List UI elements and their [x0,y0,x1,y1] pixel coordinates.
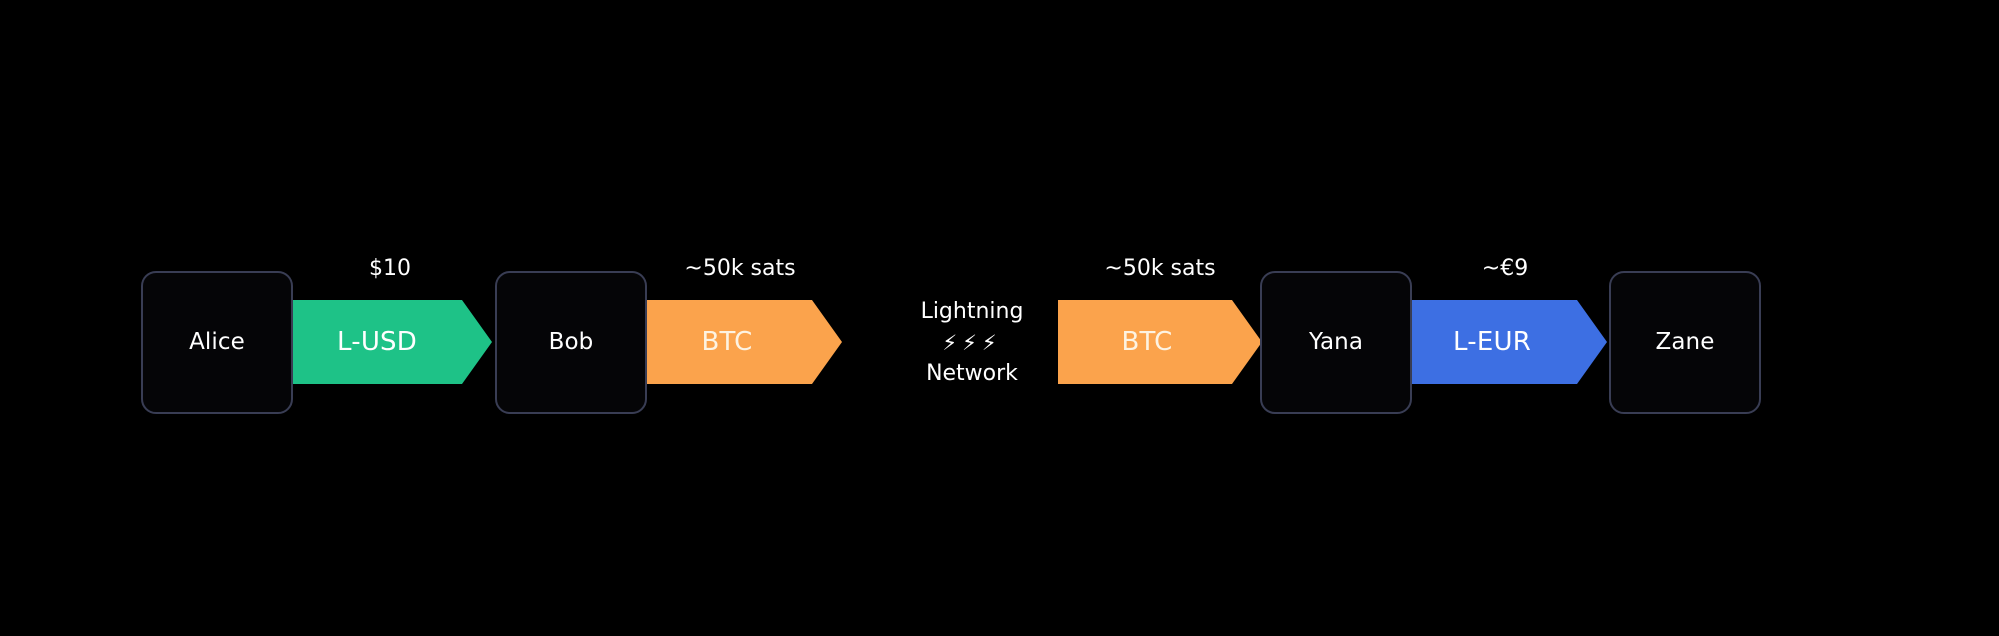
arrow-yana-to-zane[interactable]: L-EUR [1403,300,1607,384]
amount-yana-to-zane: ~€9 [1403,258,1607,280]
node-label: Alice [189,331,245,354]
node-zane[interactable]: Zane [1609,271,1761,414]
node-label: Yana [1309,331,1363,354]
lightning-network-line-bottom: Network [862,358,1082,390]
payment-flow: Alice Bob Yana Zane L-USD BTC [0,0,1999,636]
arrow-label: L-EUR [1403,329,1607,355]
arrow-label: BTC [1058,329,1262,355]
node-label: Bob [549,331,594,354]
amount-bob-to-lightning: ~50k sats [638,258,842,280]
lightning-bolt-icon: ⚡ [962,328,982,358]
lightning-bolt-icon: ⚡ [942,328,962,358]
diagram-canvas: Alice Bob Yana Zane L-USD BTC [0,0,1999,636]
lightning-network-line-top: Lightning [862,296,1082,328]
node-alice[interactable]: Alice [141,271,293,414]
arrow-bob-to-lightning[interactable]: BTC [638,300,842,384]
arrow-label: L-USD [288,329,492,355]
lightning-bolt-icon: ⚡ [982,328,1002,358]
lightning-bolts-row: ⚡⚡⚡ [862,328,1082,358]
arrow-label: BTC [638,329,842,355]
amount-lightning-to-yana: ~50k sats [1058,258,1262,280]
arrow-lightning-to-yana[interactable]: BTC [1058,300,1262,384]
node-yana[interactable]: Yana [1260,271,1412,414]
arrow-alice-to-bob[interactable]: L-USD [288,300,492,384]
amount-alice-to-bob: $10 [288,258,492,280]
node-label: Zane [1656,331,1715,354]
lightning-network-cluster: Lightning ⚡⚡⚡ Network [862,296,1082,390]
node-bob[interactable]: Bob [495,271,647,414]
